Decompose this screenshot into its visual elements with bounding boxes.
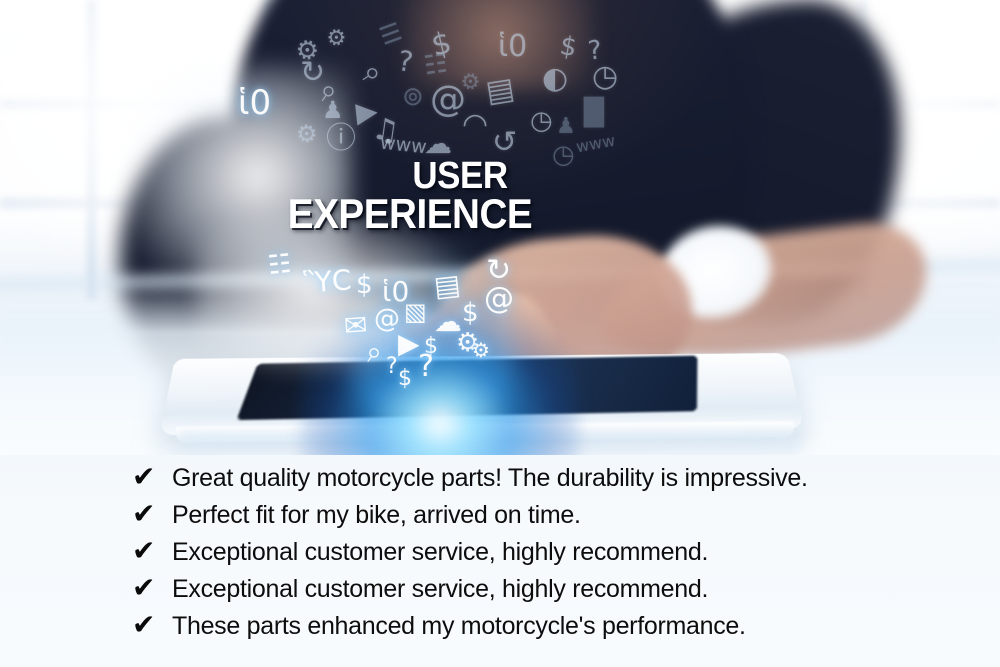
check-icon: ✔ [132, 537, 172, 565]
customer-reviews-band: ✔Great quality motorcycle parts! The dur… [0, 455, 1000, 667]
person-neck [404, 0, 594, 90]
user-experience-banner: ⚙⚙↻☰$⌕?☷ἱ0$?◷⚙◐▤@⊚ἱ0⌕▶♟♫ⓘ⚙www☁◠↺◷♟█www◷☷… [0, 0, 1000, 667]
review-item: ✔Exceptional customer service, highly re… [132, 574, 972, 611]
review-list: ✔Great quality motorcycle parts! The dur… [132, 463, 972, 648]
hero-photo: ⚙⚙↻☰$⌕?☷ἱ0$?◷⚙◐▤@⊚ἱ0⌕▶♟♫ⓘ⚙www☁◠↺◷♟█www◷☷… [0, 0, 1000, 462]
review-text: Great quality motorcycle parts! The dura… [172, 464, 808, 493]
review-item: ✔These parts enhanced my motorcycle's pe… [132, 611, 972, 648]
check-icon: ✔ [132, 574, 172, 602]
review-text: Perfect fit for my bike, arrived on time… [172, 501, 581, 530]
left-lens-flare [120, 66, 350, 306]
review-item: ✔Exceptional customer service, highly re… [132, 537, 972, 574]
check-icon: ✔ [132, 611, 172, 639]
review-text: These parts enhanced my motorcycle's per… [172, 612, 746, 641]
check-icon: ✔ [132, 463, 172, 491]
review-text: Exceptional customer service, highly rec… [172, 575, 708, 604]
review-item: ✔Great quality motorcycle parts! The dur… [132, 463, 972, 500]
check-icon: ✔ [132, 500, 172, 528]
review-item: ✔Perfect fit for my bike, arrived on tim… [132, 500, 972, 537]
review-text: Exceptional customer service, highly rec… [172, 538, 708, 567]
